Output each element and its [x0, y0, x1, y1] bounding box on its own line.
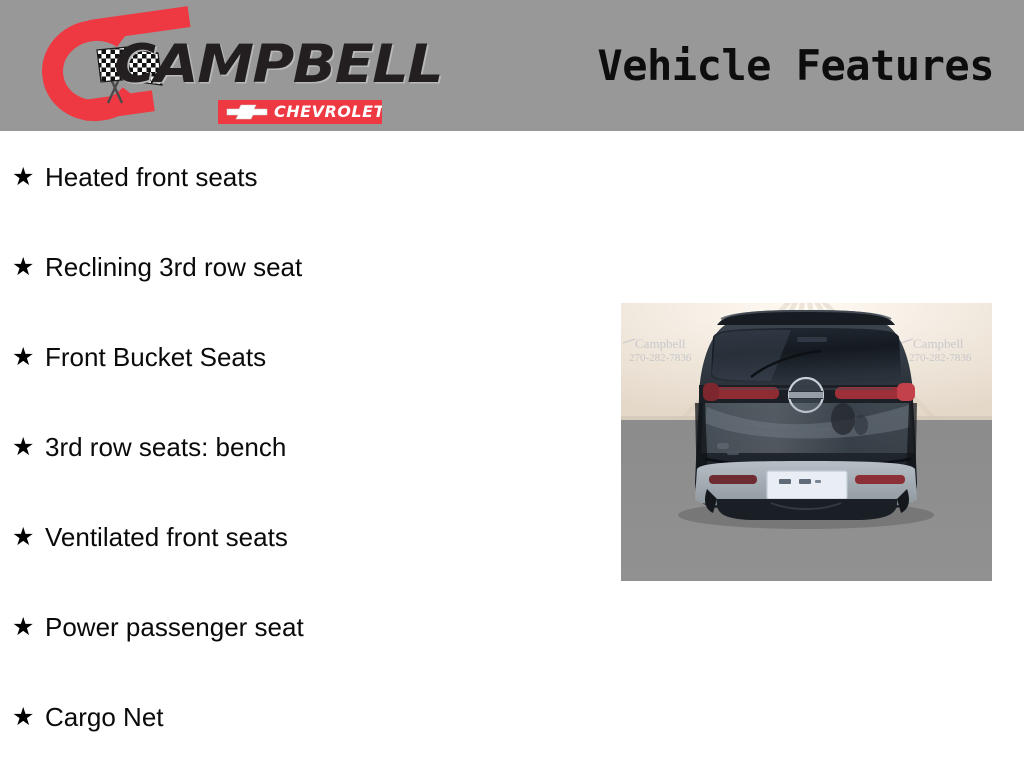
star-bullet-icon: ★	[12, 433, 45, 461]
list-item: ★ Heated front seats	[12, 162, 257, 192]
star-bullet-icon: ★	[12, 163, 45, 191]
page-title: Vehicle Features	[597, 42, 994, 90]
page-header: CAMPBELL CHEVROLET Vehicle Features	[0, 0, 1024, 131]
feature-label: Ventilated front seats	[45, 522, 288, 552]
feature-label: 3rd row seats: bench	[45, 432, 286, 462]
logo-wordmark: CAMPBELL	[114, 38, 442, 91]
feature-label: Reclining 3rd row seat	[45, 252, 302, 282]
star-bullet-icon: ★	[12, 613, 45, 641]
svg-text:Campbell: Campbell	[913, 336, 964, 351]
list-item: ★ Front Bucket Seats	[12, 342, 266, 372]
dealer-logo[interactable]: CAMPBELL CHEVROLET	[36, 12, 382, 122]
star-bullet-icon: ★	[12, 703, 45, 731]
star-bullet-icon: ★	[12, 253, 45, 281]
chevrolet-bowtie-icon	[226, 104, 268, 120]
list-item: ★ Power passenger seat	[12, 612, 304, 642]
chevrolet-banner: CHEVROLET	[218, 100, 382, 124]
list-item: ★ Cargo Net	[12, 702, 164, 732]
feature-label: Front Bucket Seats	[45, 342, 266, 372]
svg-text:Campbell: Campbell	[635, 336, 686, 351]
feature-label: Cargo Net	[45, 702, 164, 732]
vehicle-photo[interactable]: Campbell 270-282-7836 Campbell 270-282-7…	[621, 303, 992, 581]
feature-label: Power passenger seat	[45, 612, 304, 642]
svg-text:270-282-7836: 270-282-7836	[909, 352, 972, 364]
feature-label: Heated front seats	[45, 162, 257, 192]
list-item: ★ Reclining 3rd row seat	[12, 252, 302, 282]
list-item: ★ 3rd row seats: bench	[12, 432, 286, 462]
list-item: ★ Ventilated front seats	[12, 522, 288, 552]
svg-text:270-282-7836: 270-282-7836	[629, 352, 692, 364]
chevrolet-wordmark: CHEVROLET	[274, 103, 382, 121]
vehicle-rear-view-illustration: Campbell 270-282-7836 Campbell 270-282-7…	[621, 303, 992, 581]
star-bullet-icon: ★	[12, 343, 45, 371]
star-bullet-icon: ★	[12, 523, 45, 551]
